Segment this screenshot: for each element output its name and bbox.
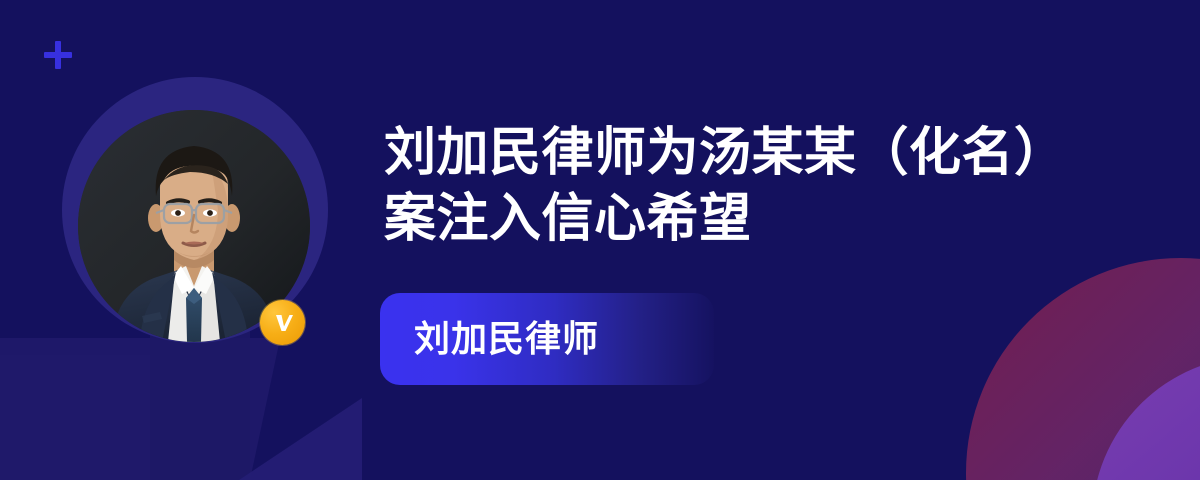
headline-block: 刘加民律师为汤某某（化名）案注入信心希望 [384,120,1174,252]
author-name-label: 刘加民律师 [414,321,599,357]
page-title: 刘加民律师为汤某某（化名）案注入信心希望 [384,120,1084,252]
verified-badge [260,300,305,345]
lawyer-promo-banner: 刘加民律师为汤某某（化名）案注入信心希望 刘加民律师 [0,0,1200,480]
plus-icon [44,41,72,69]
author-name-pill[interactable]: 刘加民律师 [380,293,714,385]
